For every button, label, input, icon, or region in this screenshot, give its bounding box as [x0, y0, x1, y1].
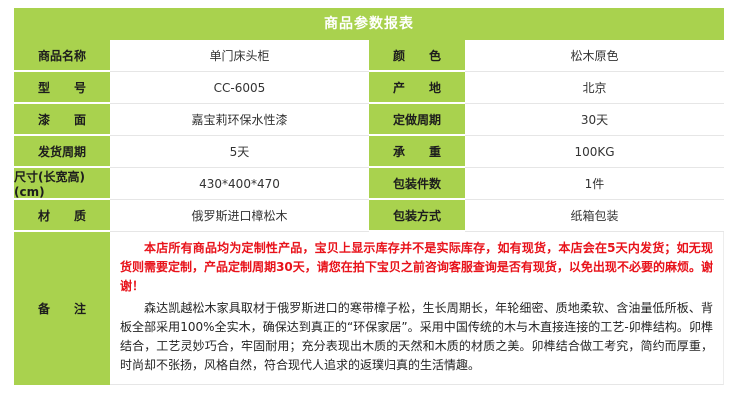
report-title: 商品参数报表 [14, 8, 724, 40]
row-label-packaging-method: 包装方式 [369, 200, 465, 232]
product-parameters-table: 商品参数报表 商品名称 单门床头柜 颜 色 松木原色 型 号 CC-6005 [14, 8, 724, 385]
product-parameters-page: 商品参数报表 商品名称 单门床头柜 颜 色 松木原色 型 号 CC-6005 [0, 0, 740, 407]
row-value-dimensions: 430*400*470 [110, 168, 369, 200]
row-label-model: 型 号 [14, 72, 110, 104]
label-text: 颜 色 [393, 47, 441, 64]
table-row: 商品名称 单门床头柜 颜 色 松木原色 [14, 40, 724, 72]
label-text: 产 地 [393, 79, 441, 96]
label-text: 型 号 [38, 79, 86, 96]
row-label-color: 颜 色 [369, 40, 465, 72]
label-text: 承 重 [393, 143, 441, 160]
label-text: 包装方式 [393, 207, 441, 224]
row-label-product-name: 商品名称 [14, 40, 110, 72]
row-label-material: 材 质 [14, 200, 110, 232]
row-value-model: CC-6005 [110, 72, 369, 104]
label-text: 漆 面 [38, 111, 86, 128]
row-label-custom-lead-time: 定做周期 [369, 104, 465, 136]
row-label-load-capacity: 承 重 [369, 136, 465, 168]
value-text: 俄罗斯进口樟松木 [191, 207, 287, 224]
row-value-material: 俄罗斯进口樟松木 [110, 200, 369, 232]
row-value-product-name: 单门床头柜 [110, 40, 369, 72]
value-text: CC-6005 [214, 81, 266, 95]
remarks-row: 备 注 本店所有商品均为定制性产品，宝贝上显示库存并不是实际库存，如有现货，本店… [14, 232, 724, 385]
label-text: 尺寸(长宽高)(cm) [14, 168, 110, 199]
row-label-origin: 产 地 [369, 72, 465, 104]
row-label-paint-finish: 漆 面 [14, 104, 110, 136]
value-text: 100KG [574, 145, 614, 159]
value-text: 1件 [585, 175, 605, 192]
value-text: 5天 [230, 143, 250, 160]
value-text: 松木原色 [570, 47, 618, 64]
value-text: 30天 [581, 111, 608, 128]
table-row: 材 质 俄罗斯进口樟松木 包装方式 纸箱包装 [14, 200, 724, 232]
row-label-shipping-lead-time: 发货周期 [14, 136, 110, 168]
row-label-dimensions: 尺寸(长宽高)(cm) [14, 168, 110, 200]
label-text: 商品名称 [38, 47, 86, 64]
row-label-package-count: 包装件数 [369, 168, 465, 200]
remarks-notice-paragraph: 本店所有商品均为定制性产品，宝贝上显示库存并不是实际库存，如有现货，本店会在5天… [120, 239, 713, 296]
row-value-custom-lead-time: 30天 [465, 104, 724, 136]
value-text: 430*400*470 [199, 177, 280, 191]
label-text: 发货周期 [38, 143, 86, 160]
row-value-package-count: 1件 [465, 168, 724, 200]
table-row: 型 号 CC-6005 产 地 北京 [14, 72, 724, 104]
label-text: 定做周期 [393, 111, 441, 128]
remarks-description-paragraph: 森达凯越松木家具取材于俄罗斯进口的寒带樟子松，生长周期长，年轮细密、质地柔软、含… [120, 299, 713, 375]
label-text: 包装件数 [393, 175, 441, 192]
table-row: 尺寸(长宽高)(cm) 430*400*470 包装件数 1件 [14, 168, 724, 200]
table-row: 漆 面 嘉宝莉环保水性漆 定做周期 30天 [14, 104, 724, 136]
row-value-shipping-lead-time: 5天 [110, 136, 369, 168]
remarks-body: 本店所有商品均为定制性产品，宝贝上显示库存并不是实际库存，如有现货，本店会在5天… [110, 232, 724, 385]
row-value-packaging-method: 纸箱包装 [465, 200, 724, 232]
value-text: 北京 [582, 79, 606, 96]
label-text: 材 质 [38, 207, 86, 224]
label-text: 备 注 [38, 300, 86, 317]
value-text: 嘉宝莉环保水性漆 [191, 111, 287, 128]
row-value-origin: 北京 [465, 72, 724, 104]
row-value-color: 松木原色 [465, 40, 724, 72]
remarks-label: 备 注 [14, 232, 110, 385]
row-value-paint-finish: 嘉宝莉环保水性漆 [110, 104, 369, 136]
row-value-load-capacity: 100KG [465, 136, 724, 168]
value-text: 纸箱包装 [570, 207, 618, 224]
table-row: 发货周期 5天 承 重 100KG [14, 136, 724, 168]
value-text: 单门床头柜 [209, 47, 269, 64]
